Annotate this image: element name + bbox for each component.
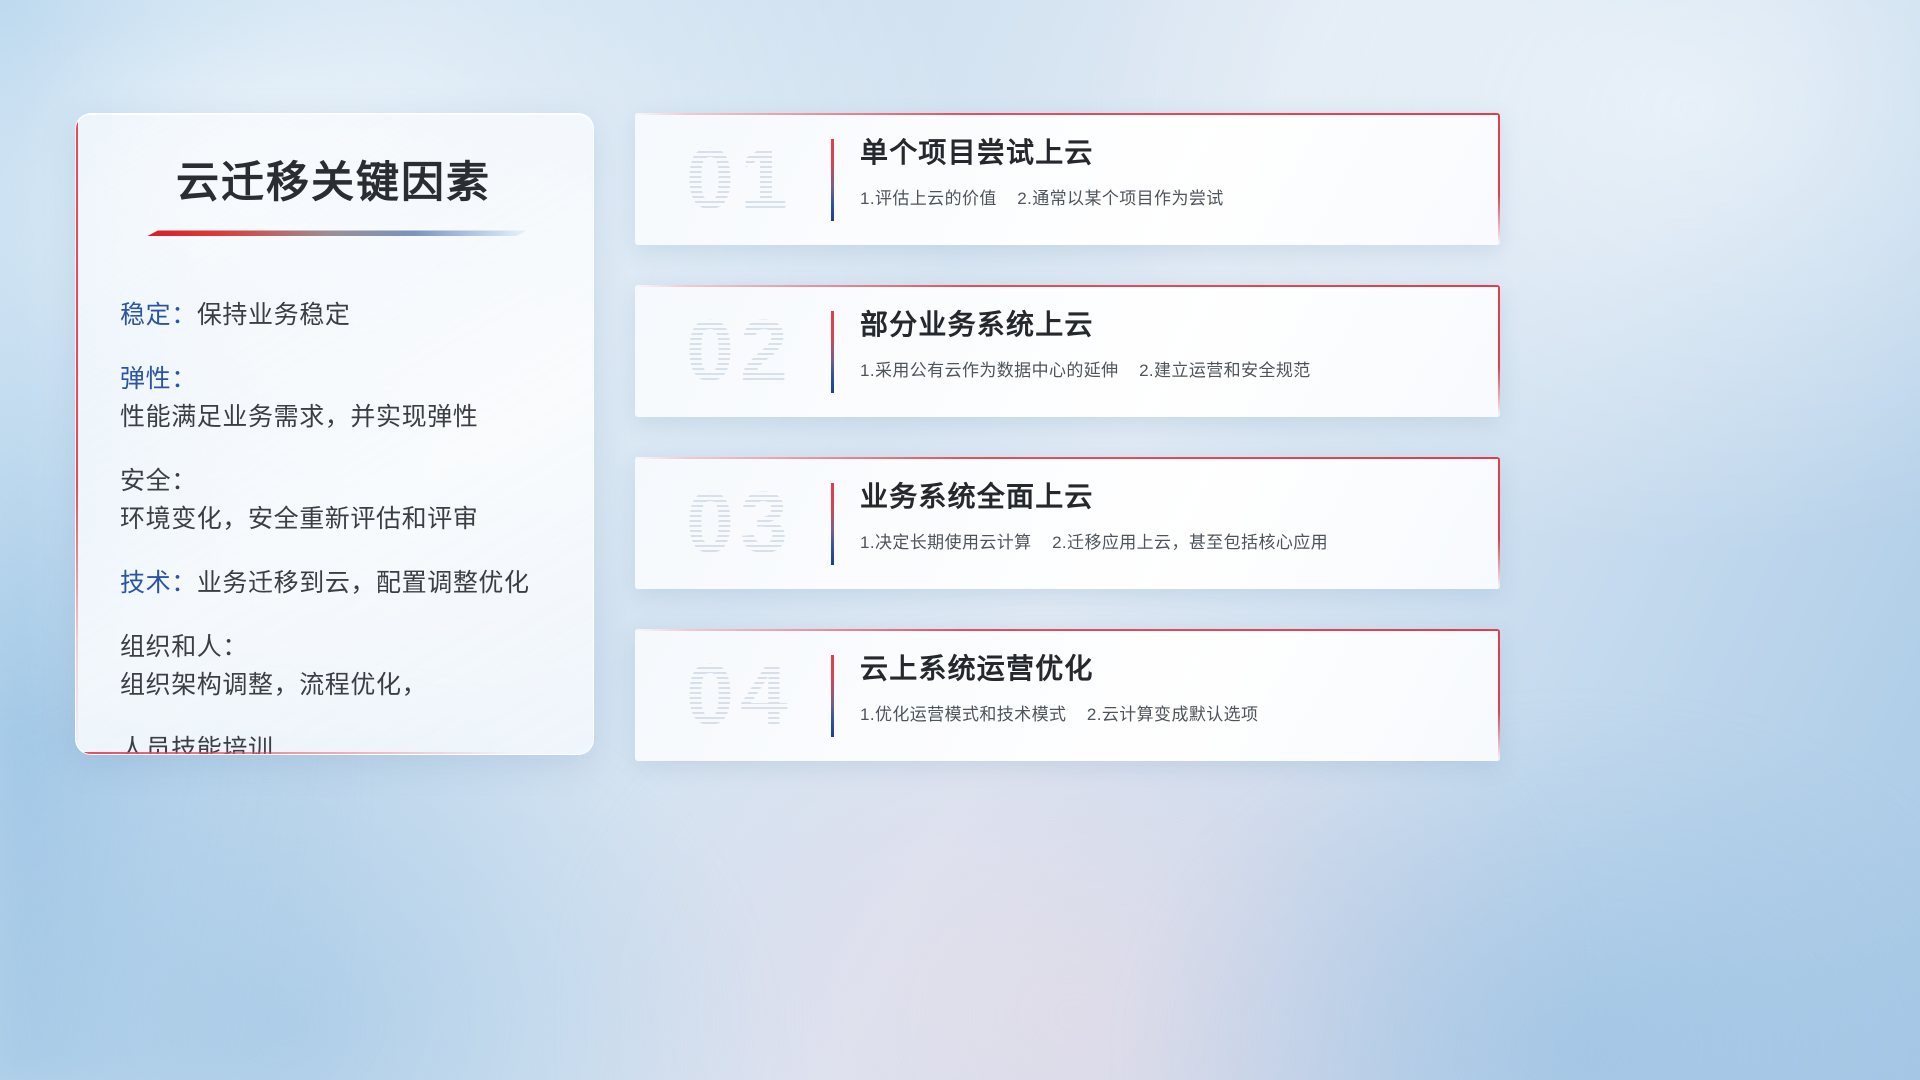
step-subtitle: 1.评估上云的价值 2.通常以某个项目作为尝试 (860, 184, 1474, 209)
factor-label: 弹性： (120, 360, 197, 398)
card-right-accent (1498, 285, 1500, 417)
step-subtitle: 1.优化运营模式和技术模式 2.云计算变成默认选项 (860, 700, 1474, 725)
factor-text: 保持业务稳定 (197, 296, 351, 334)
factor-label: 组织和人： (120, 628, 248, 666)
factor-row: 安全：环境变化，安全重新评估和评审 (120, 462, 553, 538)
card-right-accent (1498, 457, 1500, 589)
step-text-block: 业务系统全面上云1.决定长期使用云计算 2.迁移应用上云，甚至包括核心应用 (860, 479, 1474, 553)
factor-label: 技术： (120, 564, 197, 602)
step-title: 云上系统运营优化 (860, 651, 1474, 686)
factor-text: 人员技能培训 (120, 730, 274, 755)
page-title: 云迁移关键因素 (120, 159, 553, 208)
title-underline-rule (147, 230, 527, 236)
step-card-02[interactable]: 02部分业务系统上云1.采用公有云作为数据中心的延伸 2.建立运营和安全规范 (635, 285, 1500, 417)
step-title: 业务系统全面上云 (860, 479, 1474, 514)
factor-text: 业务迁移到云，配置调整优化 (197, 564, 530, 602)
factor-text: 组织架构调整，流程优化， (120, 666, 427, 704)
factor-row: 稳定：保持业务稳定 (120, 296, 553, 334)
factor-row: 弹性：性能满足业务需求，并实现弹性 (120, 360, 553, 436)
step-text-block: 云上系统运营优化1.优化运营模式和技术模式 2.云计算变成默认选项 (860, 651, 1474, 725)
key-factors-list: 稳定：保持业务稳定弹性：性能满足业务需求，并实现弹性安全：环境变化，安全重新评估… (120, 296, 553, 755)
step-divider-bar (831, 139, 834, 221)
card-top-accent (635, 457, 1500, 459)
factor-row: 组织和人：组织架构调整，流程优化， (120, 628, 553, 704)
card-top-accent (635, 113, 1500, 115)
card-right-accent (1498, 629, 1500, 761)
step-text-block: 单个项目尝试上云1.评估上云的价值 2.通常以某个项目作为尝试 (860, 135, 1474, 209)
factor-text: 性能满足业务需求，并实现弹性 (120, 398, 478, 436)
card-top-accent (635, 285, 1500, 287)
factor-row: 人员技能培训 (120, 730, 553, 755)
key-factors-card: 云迁移关键因素 稳定：保持业务稳定弹性：性能满足业务需求，并实现弹性安全：环境变… (75, 113, 594, 755)
step-divider-bar (831, 655, 834, 737)
step-number-watermark: 03 (655, 470, 825, 576)
migration-steps-list: 01单个项目尝试上云1.评估上云的价值 2.通常以某个项目作为尝试02部分业务系… (635, 113, 1500, 761)
step-subtitle: 1.采用公有云作为数据中心的延伸 2.建立运营和安全规范 (860, 356, 1474, 381)
factor-text: 环境变化，安全重新评估和评审 (120, 500, 478, 538)
step-card-04[interactable]: 04云上系统运营优化1.优化运营模式和技术模式 2.云计算变成默认选项 (635, 629, 1500, 761)
step-number-watermark: 01 (655, 126, 825, 232)
slide-stage: 云迁移关键因素 稳定：保持业务稳定弹性：性能满足业务需求，并实现弹性安全：环境变… (0, 0, 1920, 1080)
step-title: 单个项目尝试上云 (860, 135, 1474, 170)
step-number-watermark: 04 (655, 642, 825, 748)
step-text-block: 部分业务系统上云1.采用公有云作为数据中心的延伸 2.建立运营和安全规范 (860, 307, 1474, 381)
step-number-watermark: 02 (655, 298, 825, 404)
step-divider-bar (831, 311, 834, 393)
factor-row: 技术：业务迁移到云，配置调整优化 (120, 564, 553, 602)
card-right-accent (1498, 113, 1500, 245)
step-title: 部分业务系统上云 (860, 307, 1474, 342)
step-card-03[interactable]: 03业务系统全面上云1.决定长期使用云计算 2.迁移应用上云，甚至包括核心应用 (635, 457, 1500, 589)
step-subtitle: 1.决定长期使用云计算 2.迁移应用上云，甚至包括核心应用 (860, 528, 1474, 553)
factor-label: 安全： (120, 462, 197, 500)
factor-label: 稳定： (120, 296, 197, 334)
step-card-01[interactable]: 01单个项目尝试上云1.评估上云的价值 2.通常以某个项目作为尝试 (635, 113, 1500, 245)
step-divider-bar (831, 483, 834, 565)
card-top-accent (635, 629, 1500, 631)
